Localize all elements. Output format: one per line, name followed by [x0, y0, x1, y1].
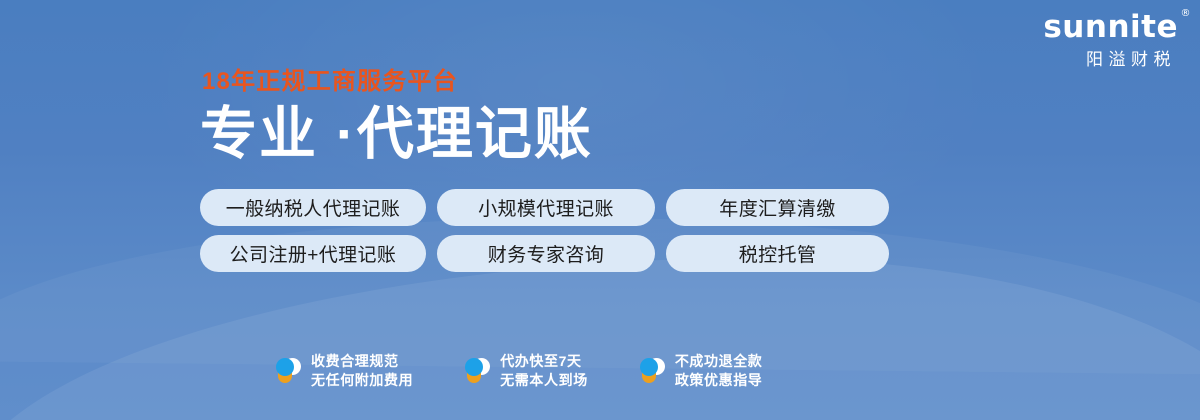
service-tag-small-scale[interactable]: 小规模代理记账 [437, 189, 655, 226]
service-tag-tax-control-hosting[interactable]: 税控托管 [666, 235, 889, 272]
brand-logo-text: sunnite [1043, 9, 1178, 45]
brand-logo-wordmark: sunnite ® [1043, 12, 1178, 43]
service-tag-general-taxpayer[interactable]: 一般纳税人代理记账 [200, 189, 426, 226]
dot-moon-drop-icon [640, 356, 666, 386]
dot-moon-drop-icon [276, 356, 302, 386]
service-tag-row-2: 公司注册+代理记账 财务专家咨询 税控托管 [200, 235, 940, 272]
service-tag-row-1: 一般纳税人代理记账 小规模代理记账 年度汇算清缴 [200, 189, 940, 226]
feature-item-speed: 代办快至7天 无需本人到场 [465, 352, 588, 390]
feature-item-guarantee-text: 不成功退全款 政策优惠指导 [675, 352, 763, 390]
dot-moon-drop-icon [465, 356, 491, 386]
promo-banner: sunnite ® 阳溢财税 18年正规工商服务平台 专业 ·代理记账 一般纳税… [0, 0, 1200, 420]
feature-line-1: 不成功退全款 [675, 353, 763, 369]
service-tag-expert-consulting[interactable]: 财务专家咨询 [437, 235, 655, 272]
feature-line-2: 无任何附加费用 [311, 372, 413, 388]
hero-content: 18年正规工商服务平台 专业 ·代理记账 一般纳税人代理记账 小规模代理记账 年… [200, 70, 940, 272]
background-wave-lower [0, 247, 1200, 420]
brand-logo[interactable]: sunnite ® 阳溢财税 [1043, 12, 1178, 68]
hero-headline: 专业 ·代理记账 [200, 106, 940, 163]
service-tag-grid: 一般纳税人代理记账 小规模代理记账 年度汇算清缴 公司注册+代理记账 财务专家咨… [200, 189, 940, 272]
service-tag-annual-settlement[interactable]: 年度汇算清缴 [666, 189, 889, 226]
feature-line-2: 无需本人到场 [500, 372, 588, 388]
feature-item-guarantee: 不成功退全款 政策优惠指导 [640, 352, 763, 390]
feature-strip: 收费合理规范 无任何附加费用 代办快至7天 无需本人到场 不成功退全款 [276, 352, 762, 390]
feature-item-pricing-text: 收费合理规范 无任何附加费用 [311, 352, 413, 390]
registered-trademark-icon: ® [1181, 9, 1192, 19]
service-tag-company-registration[interactable]: 公司注册+代理记账 [200, 235, 426, 272]
brand-logo-subtitle: 阳溢财税 [1043, 51, 1178, 68]
feature-item-speed-text: 代办快至7天 无需本人到场 [500, 352, 588, 390]
hero-eyebrow: 18年正规工商服务平台 [202, 70, 940, 94]
feature-line-1: 代办快至7天 [500, 353, 581, 369]
feature-line-1: 收费合理规范 [311, 353, 399, 369]
feature-item-pricing: 收费合理规范 无任何附加费用 [276, 352, 413, 390]
feature-line-2: 政策优惠指导 [675, 372, 763, 388]
